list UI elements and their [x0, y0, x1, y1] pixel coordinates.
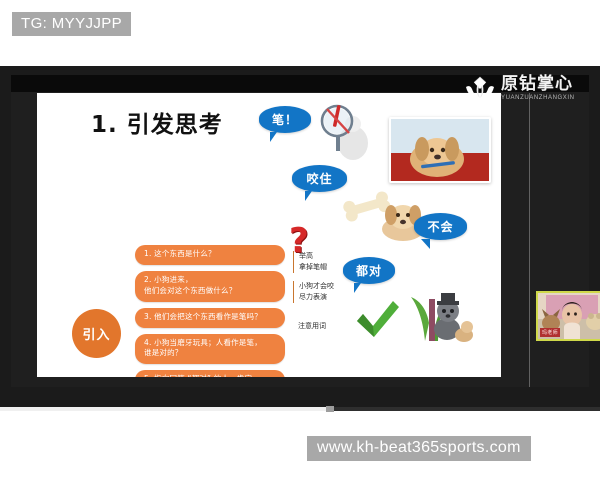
question-pill: 4. 小狗当磨牙玩具；人看作是笔， 谁是对的？	[135, 334, 285, 365]
video-progress-bar[interactable]	[0, 407, 600, 411]
presenter-webcam-thumbnail[interactable]: 玛老师	[536, 291, 600, 341]
question-pill: 5. 指向回答 “都对” 的人，肯定	[135, 370, 285, 377]
magnifier-pen-figure-image	[309, 99, 373, 163]
cat-and-plant-image	[407, 271, 477, 343]
slide-canvas: 1. 引发思考 引入 1. 这个东西是什么？ 2. 小狗进来， 他们会对这个东西…	[37, 93, 501, 377]
green-check-mark-image	[353, 299, 401, 341]
video-progress-fill	[0, 407, 330, 411]
presenter-name-label: 玛老师	[540, 328, 560, 337]
panel-divider	[529, 93, 530, 387]
player-stage: 原钻掌心 YUANZUANZHANGXIN 1. 引发思考 引入 1. 这个东西…	[11, 75, 589, 387]
question-pill: 1. 这个东西是什么？	[135, 245, 285, 265]
video-progress-handle[interactable]	[326, 406, 334, 412]
dog-with-pen-photo	[389, 117, 491, 183]
speech-bubble-pen: 笔！	[259, 106, 311, 133]
question-mark-graphic: ?	[289, 221, 309, 261]
video-player[interactable]: 原钻掌心 YUANZUANZHANGXIN 1. 引发思考 引入 1. 这个东西…	[0, 66, 600, 408]
speech-bubble-no: 不会	[414, 213, 467, 240]
question-pill: 2. 小狗进来， 他们会对这个东西做什么？	[135, 271, 285, 302]
diamond-in-palm-icon	[463, 75, 497, 101]
slide-title: 1. 引发思考	[91, 105, 223, 139]
slide-annotation: 注意用词	[293, 321, 326, 332]
entry-badge: 引入	[72, 309, 121, 358]
speech-bubble-both: 都对	[343, 257, 395, 284]
speech-bubble-bite: 咬住	[292, 165, 347, 192]
slide-annotation: 小狗才会咬 尽力表演	[293, 281, 334, 303]
question-pill-list: 1. 这个东西是什么？ 2. 小狗进来， 他们会对这个东西做什么？ 3. 他们会…	[135, 245, 285, 377]
brand-name: 原钻掌心	[501, 76, 575, 93]
brand-pinyin: YUANZUANZHANGXIN	[501, 95, 575, 101]
brand-text: 原钻掌心 YUANZUANZHANGXIN	[501, 76, 575, 101]
telegram-watermark-tag: TG: MYYJJPP	[12, 12, 131, 36]
question-pill: 3. 他们会把这个东西看作是笔吗？	[135, 308, 285, 328]
brand-logo: 原钻掌心 YUANZUANZHANGXIN	[463, 71, 575, 105]
site-watermark: www.kh-beat365sports.com	[307, 436, 531, 461]
